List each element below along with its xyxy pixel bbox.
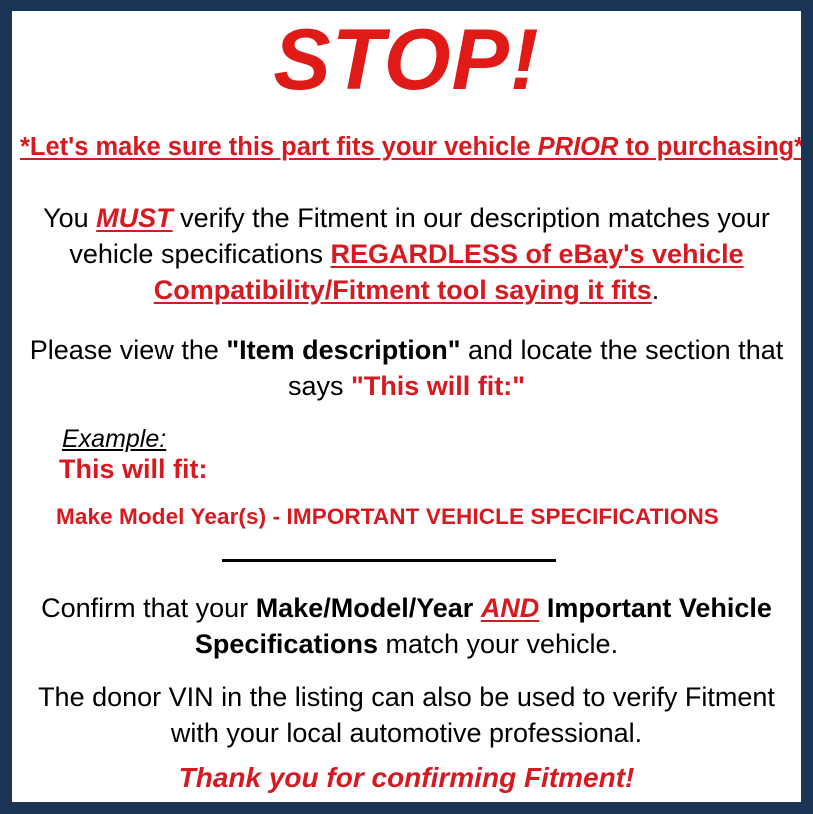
subtitle-part-1: *Let's make sure this part fits your veh… [20, 133, 538, 161]
p3-emphasis-make-model-year: Make/Model/Year [256, 593, 474, 623]
p3-segment-1: Confirm that your [41, 593, 256, 623]
subtitle-emphasis-prior: PRIOR [538, 133, 619, 161]
paragraph-item-description: Please view the "Item description" and l… [26, 333, 787, 405]
p2-emphasis-item-description: "Item description" [226, 335, 460, 365]
paragraph-confirm-match: Confirm that your Make/Model/Year AND Im… [32, 591, 781, 663]
p2-segment-1: Please view the [30, 335, 227, 365]
p1-emphasis-must: MUST [96, 203, 173, 233]
example-spec-line: Make Model Year(s) - IMPORTANT VEHICLE S… [56, 504, 719, 530]
subtitle-banner: *Let's make sure this part fits your veh… [20, 132, 793, 164]
paragraph-verify-fitment: You MUST verify the Fitment in our descr… [30, 201, 783, 309]
paragraph-donor-vin: The donor VIN in the listing can also be… [28, 680, 785, 752]
subtitle-part-2: to purchasing* [618, 133, 801, 161]
horizontal-divider [222, 559, 556, 562]
page-title: STOP! [12, 17, 801, 103]
p3-emphasis-and: AND [481, 593, 540, 623]
example-heading-this-will-fit: This will fit: [59, 454, 208, 485]
notice-card: STOP! *Let's make sure this part fits yo… [12, 11, 801, 802]
p1-segment-3: . [652, 275, 660, 305]
p2-emphasis-this-will-fit: "This will fit:" [351, 371, 525, 401]
p3-space-1 [473, 593, 481, 623]
fitment-notice-graphic: STOP! *Let's make sure this part fits yo… [0, 0, 813, 814]
p3-segment-2: match your vehicle. [378, 629, 618, 659]
p3-space-2 [539, 593, 547, 623]
example-label: Example: [62, 425, 166, 454]
p1-segment-1: You [43, 203, 96, 233]
closing-thank-you: Thank you for confirming Fitment! [12, 762, 801, 794]
